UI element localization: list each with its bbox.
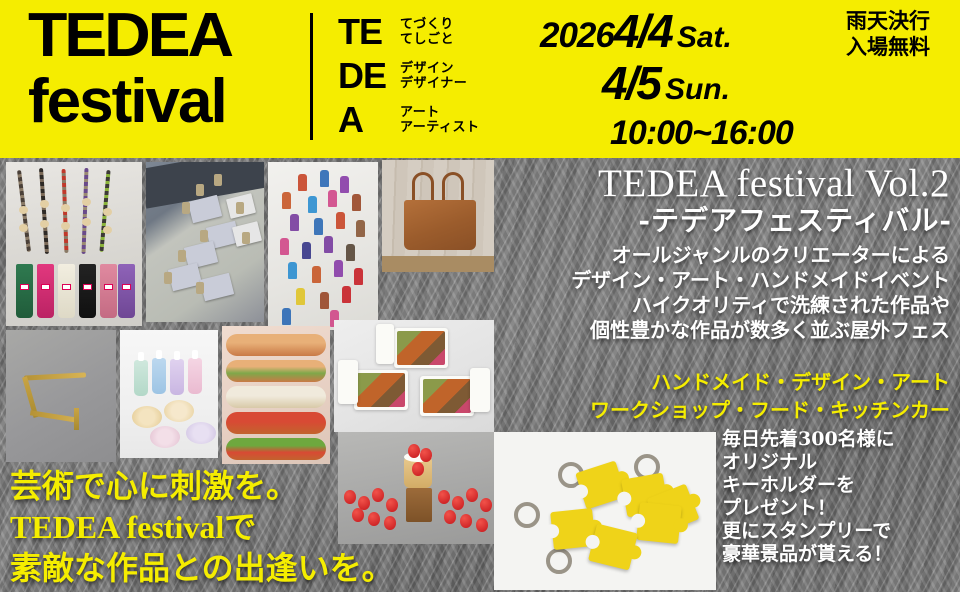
present-line-5: 更にスタンプリーで: [722, 520, 895, 543]
photo-leather-tote: [382, 160, 494, 272]
photo-wall-art-figures: [268, 162, 378, 330]
photo-takeout-boxes: [334, 320, 494, 432]
event-notes: 雨天決行 入場無料: [846, 8, 930, 60]
acronym-word-te-1: てづくり: [400, 17, 454, 32]
present-line-4: プレゼント！: [722, 497, 895, 520]
acronym-row-de: DE デザイン デザイナー: [338, 54, 548, 98]
slogan-line-2: TEDEA festivalで: [10, 507, 394, 548]
present-line-2: オリジナル: [722, 451, 895, 474]
acronym-words-a: アート アーティスト: [400, 105, 479, 135]
date-row-first: 2026 4/4 Sat.: [540, 4, 840, 58]
description-line-3: ハイクオリティで洗練された作品や: [571, 293, 950, 318]
acronym-letter-a: A: [338, 101, 400, 139]
acronym-word-de-1: デザイン: [400, 61, 467, 76]
acronym-word-de-2: デザイナー: [400, 76, 467, 91]
genre-line-2: ワークショップ・フード・キッチンカー: [590, 396, 950, 424]
description-line-4: 個性豊かな作品が数多く並ぶ屋外フェス: [571, 318, 950, 343]
event-dow-1: Sat.: [677, 21, 732, 55]
slogan-line-1: 芸術で心に刺激を。: [10, 466, 394, 507]
present-line-1: 毎日先着300名様に: [722, 428, 895, 451]
acronym-word-a-2: アーティスト: [400, 120, 479, 135]
event-slogan: 芸術で心に刺激を。 TEDEA festivalで 素敵な作品との出逢いを。: [10, 466, 394, 589]
acronym-legend: TE てづくり てしごと DE デザイン デザイナー A アート アーティスト: [338, 10, 548, 142]
date-row-second: 4/5 Sun.: [602, 56, 840, 110]
description-line-1: オールジャンルのクリエーターによる: [571, 243, 950, 268]
present-notice: 毎日先着300名様に オリジナル キーホルダーを プレゼント！ 更にスタンプリー…: [722, 428, 895, 566]
event-day-2: 4/5: [602, 56, 660, 110]
acronym-words-te: てづくり てしごと: [400, 17, 454, 47]
photo-pouches: [6, 162, 142, 326]
acronym-word-a-1: アート: [400, 105, 479, 120]
acronym-letter-de: DE: [338, 57, 400, 95]
poster-root: TEDEA festival TE てづくり てしごと DE デザイン デザイナ…: [0, 0, 960, 592]
brand-logo: TEDEA festival: [28, 4, 306, 134]
event-dow-2: Sun.: [665, 73, 730, 107]
photo-jewelry-display: [146, 162, 264, 322]
acronym-letter-te: TE: [338, 13, 400, 51]
event-day-1: 4/4: [614, 4, 672, 58]
acronym-words-de: デザイン デザイナー: [400, 61, 467, 91]
page-title: TEDEA festival Vol.2: [598, 163, 950, 205]
logo-text-festival: festival: [28, 70, 306, 134]
event-dates: 2026 4/4 Sat. 4/5 Sun. 10:00~16:00: [540, 4, 840, 153]
page-subtitle: -テデアフェスティバル-: [638, 205, 952, 237]
note-free-admission: 入場無料: [846, 34, 930, 60]
event-year: 2026: [540, 16, 614, 56]
acronym-row-te: TE てづくり てしごと: [338, 10, 548, 54]
photo-puzzle-keychains: [494, 432, 716, 590]
photo-brass-hook: [6, 330, 116, 462]
acronym-word-te-2: てしごと: [400, 32, 454, 47]
event-hours: 10:00~16:00: [610, 114, 840, 153]
genre-line-1: ハンドメイド・デザイン・アート: [590, 368, 950, 396]
photo-hot-dogs: [222, 326, 330, 464]
event-description: オールジャンルのクリエーターによる デザイン・アート・ハンドメイドイベント ハイ…: [571, 243, 950, 343]
event-genres: ハンドメイド・デザイン・アート ワークショップ・フード・キッチンカー: [590, 368, 950, 424]
header-banner: TEDEA festival TE てづくり てしごと DE デザイン デザイナ…: [0, 0, 960, 158]
photo-decorated-donuts: [120, 330, 218, 458]
present-line-6: 豪華景品が貰える！: [722, 543, 895, 566]
logo-text-tedea: TEDEA: [28, 4, 317, 68]
present-line-3: キーホルダーを: [722, 474, 895, 497]
header-divider: [310, 13, 313, 140]
description-line-2: デザイン・アート・ハンドメイドイベント: [571, 268, 950, 293]
slogan-line-3: 素敵な作品との出逢いを。: [10, 548, 394, 589]
note-rain-or-shine: 雨天決行: [846, 8, 930, 34]
acronym-row-a: A アート アーティスト: [338, 98, 548, 142]
